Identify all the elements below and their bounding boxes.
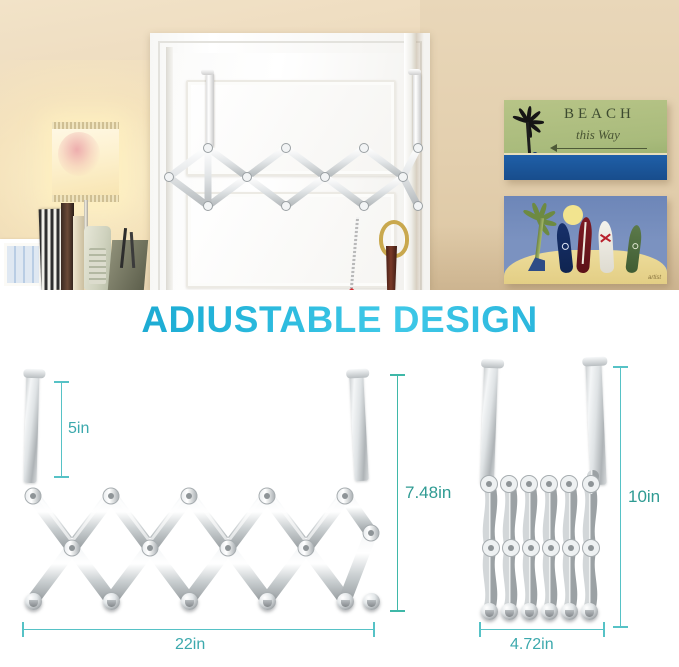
beach-sign-subtext: this Way (576, 127, 620, 143)
expanded-hook-2 (103, 593, 120, 610)
desk-object (108, 240, 148, 290)
page-title: ADIUSTABLE DESIGN (0, 299, 679, 341)
dim-line-collapsed-width (479, 629, 605, 630)
arrow-line (552, 148, 647, 149)
cordless-phone (84, 226, 111, 290)
dim-label-total-height: 7.48in (405, 483, 451, 503)
lamp-shade (52, 122, 119, 202)
surfboards-art: artist (504, 196, 667, 284)
expanded-hook-4 (259, 593, 276, 610)
dim-line-total-width (22, 629, 375, 630)
dim-label-collapsed-height: 10in (628, 487, 660, 507)
collapsed-hook-2 (501, 603, 518, 620)
sea-band (504, 153, 667, 180)
expanded-rack-diagram: 5in 7.48in 22in (0, 348, 400, 667)
dim-line-collapsed-height (620, 366, 621, 628)
beach-sign-heading: BEACH (564, 106, 635, 123)
surfboard-3 (598, 221, 615, 274)
lifestyle-photo: BEACH this Way artist (0, 0, 679, 290)
sun-icon (563, 205, 583, 225)
expanded-hook-5 (337, 593, 354, 610)
photo-accordion-rack (150, 50, 440, 290)
dim-line-total-height (397, 374, 398, 612)
collapsed-hook-6 (581, 603, 598, 620)
leather-strap (386, 246, 397, 290)
expanded-lattice-svg (0, 348, 400, 667)
book-cream (73, 216, 84, 290)
collapsed-hook-5 (561, 603, 578, 620)
collapsed-rack-diagram: 10in 4.72in (460, 348, 679, 667)
dim-line-arm-height (61, 381, 62, 478)
diagram-area: 5in 7.48in 22in (0, 348, 679, 667)
collapsed-hook-4 (541, 603, 558, 620)
collapsed-hook-1 (481, 603, 498, 620)
artist-signature: artist (648, 275, 661, 281)
infographic-page: BEACH this Way artist ADIUSTABLE DESI (0, 0, 679, 667)
collapsed-hook-3 (521, 603, 538, 620)
expanded-hook-1 (25, 593, 42, 610)
beach-sign-art: BEACH this Way (504, 100, 667, 180)
expanded-hook-6 (363, 593, 380, 610)
dim-label-collapsed-width: 4.72in (510, 636, 554, 654)
expanded-hook-3 (181, 593, 198, 610)
dim-label-arm-height: 5in (68, 420, 89, 438)
dim-label-total-width: 22in (175, 636, 205, 654)
